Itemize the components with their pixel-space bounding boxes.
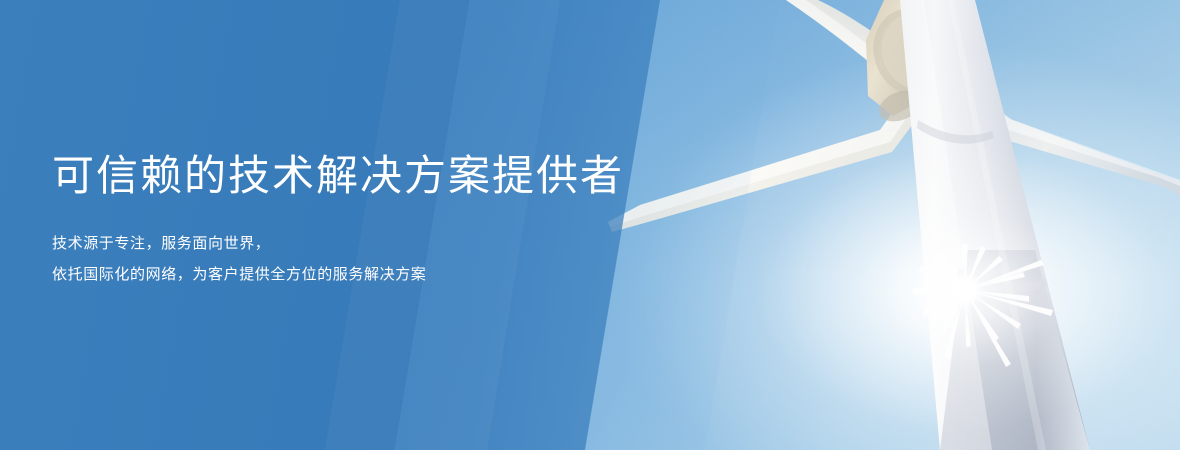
hero-subtitle-line-1: 技术源于专注，服务面向世界， xyxy=(52,228,624,259)
hero-subtitle-line-2: 依托国际化的网络，为客户提供全方位的服务解决方案 xyxy=(52,259,624,290)
hero-subtitle-group: 技术源于专注，服务面向世界， 依托国际化的网络，为客户提供全方位的服务解决方案 xyxy=(52,228,624,290)
sun-flare-core xyxy=(947,272,983,308)
hero-headline: 可信赖的技术解决方案提供者 xyxy=(52,150,624,202)
hero-text-block: 可信赖的技术解决方案提供者 技术源于专注，服务面向世界， 依托国际化的网络，为客… xyxy=(52,150,624,290)
hero-banner: 可信赖的技术解决方案提供者 技术源于专注，服务面向世界， 依托国际化的网络，为客… xyxy=(0,0,1180,450)
